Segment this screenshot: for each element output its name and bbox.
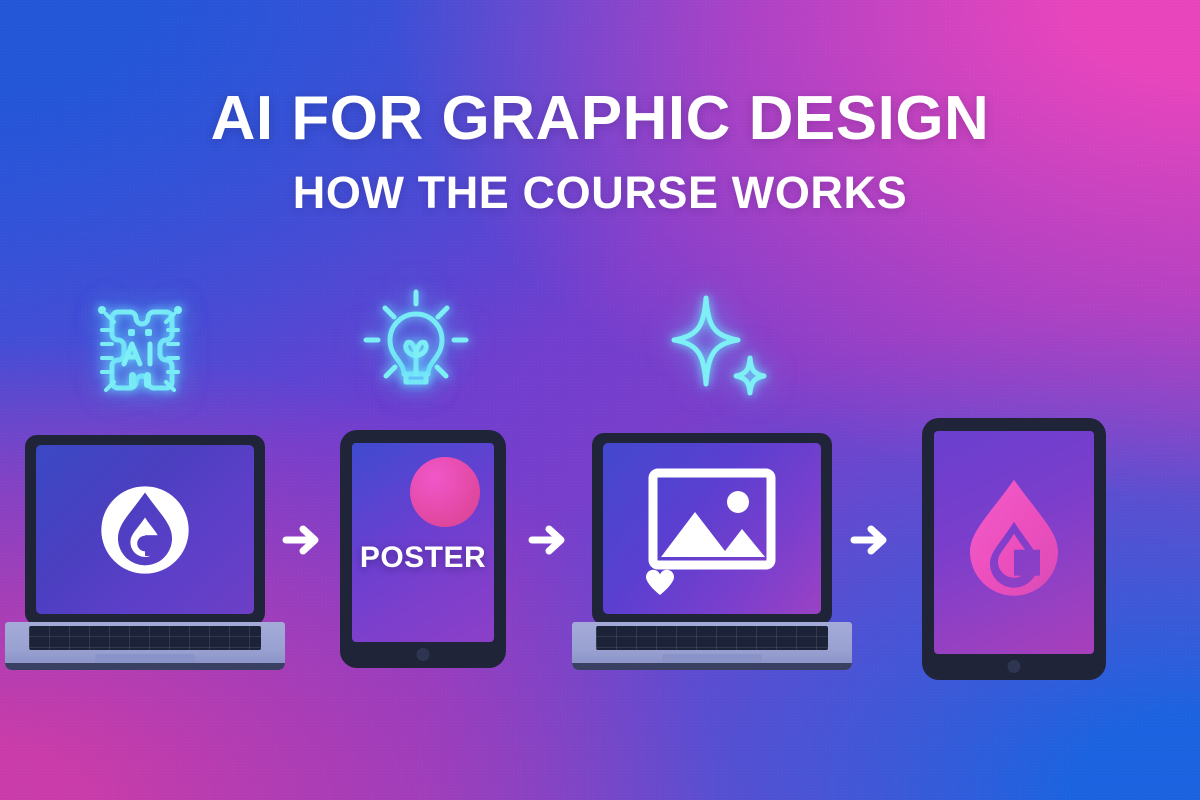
sparkle-icon bbox=[662, 292, 782, 407]
page-subtitle: HOW THE COURSE WORKS bbox=[0, 170, 1200, 215]
ai-chip-icon bbox=[84, 286, 196, 406]
header-block: AI FOR GRAPHIC DESIGN HOW THE COURSE WOR… bbox=[0, 88, 1200, 215]
lightbulb-idea-icon bbox=[356, 286, 476, 404]
poster-canvas: AI FOR GRAPHIC DESIGN HOW THE COURSE WOR… bbox=[0, 0, 1200, 800]
workflow-row: POSTER bbox=[0, 400, 1200, 700]
laptop-trackpad-1 bbox=[95, 654, 195, 670]
laptop-keyboard-2 bbox=[596, 626, 828, 650]
droplet-logo-pink-icon bbox=[958, 473, 1070, 599]
laptop-keyboard-1 bbox=[29, 626, 261, 650]
neon-icon-row bbox=[0, 278, 1200, 408]
tablet-screen-poster: POSTER bbox=[352, 443, 494, 642]
poster-accent-circle bbox=[410, 457, 480, 527]
laptop-trackpad-2 bbox=[662, 654, 762, 670]
page-title: AI FOR GRAPHIC DESIGN bbox=[0, 88, 1200, 150]
tablet-screen-brand bbox=[934, 431, 1094, 654]
poster-label: POSTER bbox=[352, 541, 494, 575]
laptop-screen-2 bbox=[603, 443, 821, 614]
laptop-screen-1 bbox=[36, 445, 254, 614]
image-placeholder-icon bbox=[647, 467, 777, 571]
heart-icon bbox=[645, 569, 675, 596]
arrow-3 bbox=[848, 520, 892, 560]
tablet-home-button-2[interactable] bbox=[1008, 660, 1021, 673]
droplet-logo-white-icon bbox=[93, 478, 197, 582]
arrow-1 bbox=[280, 520, 324, 560]
arrow-2 bbox=[526, 520, 570, 560]
tablet-home-button-1[interactable] bbox=[417, 648, 430, 661]
